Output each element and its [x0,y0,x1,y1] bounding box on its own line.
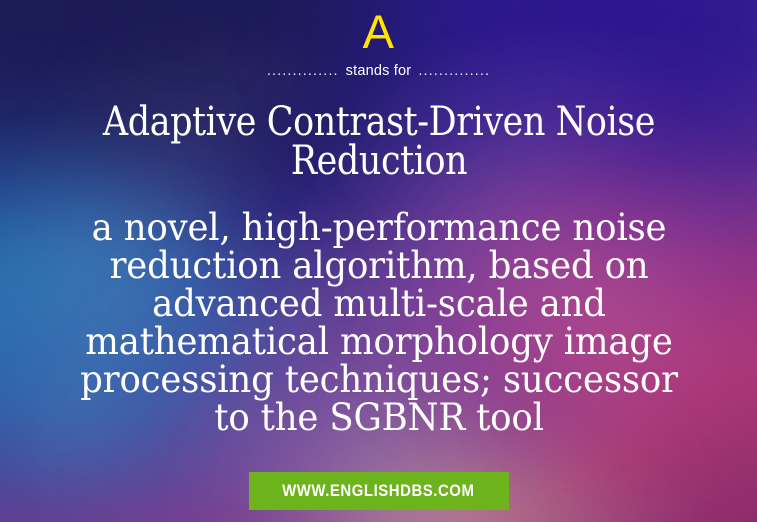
page-title: Adaptive Contrast-Driven Noise Reduction [68,103,689,181]
stands-for-row: .............. stands for .............. [267,63,490,80]
dotted-leader-right: .............. [418,63,490,80]
abbreviation-card: A .............. stands for ............… [0,0,757,522]
website-link-label: WWW.ENGLISHDBS.COM [282,481,474,501]
abbreviation-letter: A [363,6,395,58]
stands-for-label: stands for [346,63,412,80]
definition-text: a novel, high-performance noise reductio… [62,209,696,437]
dotted-leader-left: .............. [267,63,339,80]
card-content: A .............. stands for ............… [0,0,757,522]
website-link-button[interactable]: WWW.ENGLISHDBS.COM [249,472,509,510]
